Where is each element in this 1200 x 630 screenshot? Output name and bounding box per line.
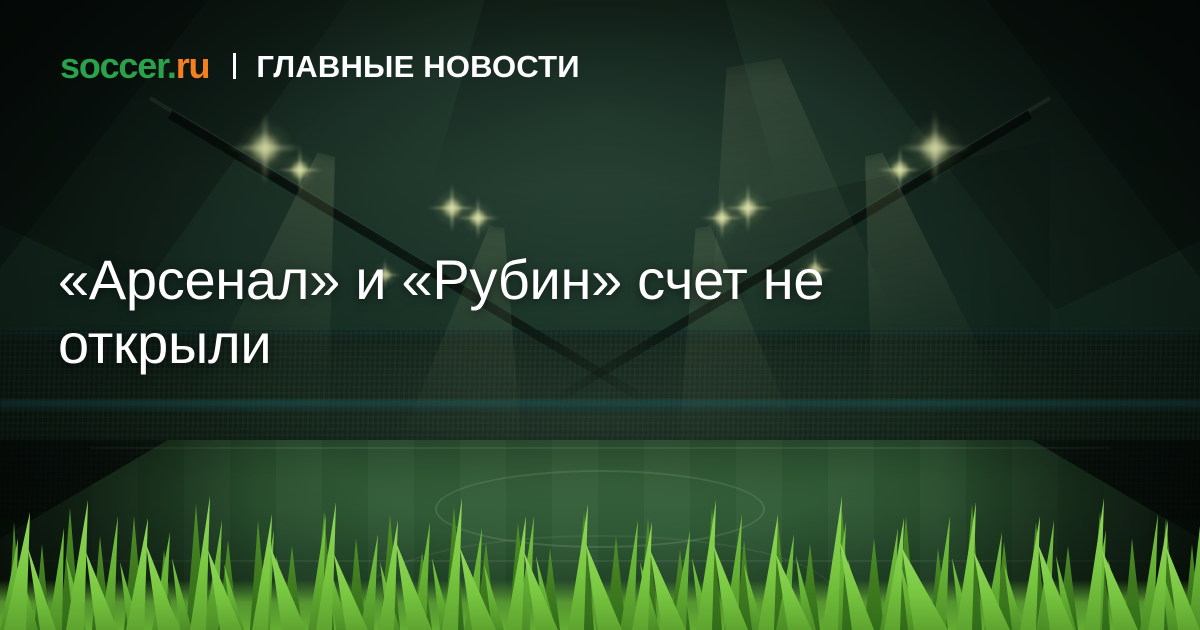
logo-dot: . xyxy=(167,45,176,86)
logo-name: soccer xyxy=(60,45,167,86)
header-kicker: ГЛАВНЫЕ НОВОСТИ xyxy=(256,51,579,82)
grass-blades-icon xyxy=(0,470,1200,630)
header-divider xyxy=(233,53,236,79)
logo-tld: ru xyxy=(176,45,210,86)
soccer-ru-logo[interactable]: soccer.ru xyxy=(60,48,209,84)
card-header: soccer.ru ГЛАВНЫЕ НОВОСТИ xyxy=(60,48,580,84)
news-share-card: soccer.ru ГЛАВНЫЕ НОВОСТИ «Арсенал» и «Р… xyxy=(0,0,1200,630)
page-title: «Арсенал» и «Рубин» счет не открыли xyxy=(58,248,958,376)
foreground-grass xyxy=(0,470,1200,630)
